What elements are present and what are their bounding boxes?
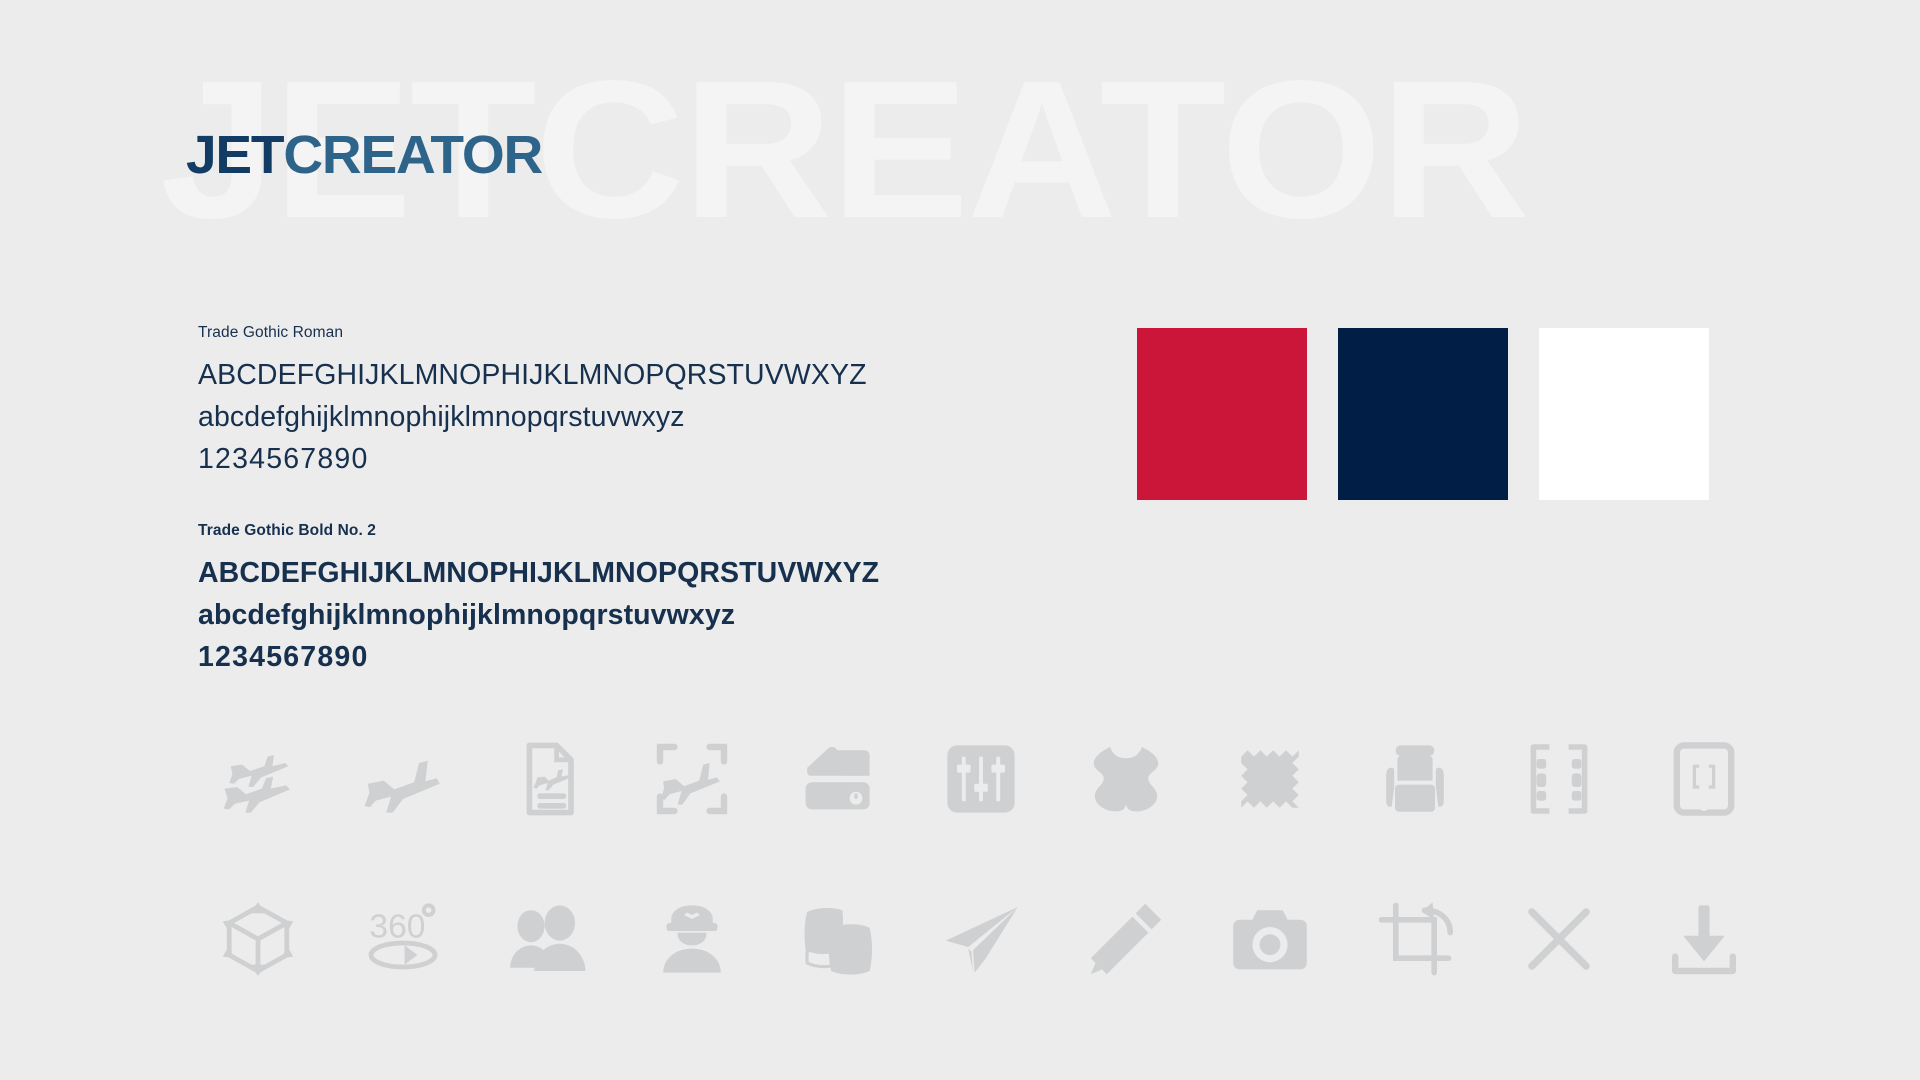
360-rotate-icon: 360 bbox=[331, 885, 476, 993]
camera-icon bbox=[1198, 885, 1343, 993]
typeface-specimen-roman: Trade Gothic Roman ABCDEFGHIJKLMNOPHIJKL… bbox=[198, 324, 867, 483]
pilot-crew-icon bbox=[620, 885, 765, 993]
two-people-icon bbox=[475, 885, 620, 993]
brand-logo: JETCREATOR bbox=[186, 128, 542, 182]
close-x-icon bbox=[1487, 885, 1632, 993]
leather-hide-icon bbox=[1053, 725, 1198, 833]
logo-creator-text: CREATOR bbox=[283, 125, 542, 185]
icon-library: 360 bbox=[186, 725, 1776, 993]
typeface-label-bold: Trade Gothic Bold No. 2 bbox=[198, 522, 879, 540]
specimen-uppercase-roman: ABCDEFGHIJKLMNOPHIJKLMNOPQRSTUVWXYZ bbox=[198, 358, 867, 393]
pillows-icon bbox=[764, 885, 909, 993]
crop-rotate-icon bbox=[1342, 885, 1487, 993]
fabric-swatch-icon bbox=[1198, 725, 1343, 833]
cabin-floorplan-icon bbox=[1487, 725, 1632, 833]
color-swatch-white bbox=[1539, 328, 1709, 500]
color-swatch-red bbox=[1137, 328, 1307, 500]
typeface-specimen-bold: Trade Gothic Bold No. 2 ABCDEFGHIJKLMNOP… bbox=[198, 522, 879, 681]
seat-cushion-stack-icon bbox=[764, 725, 909, 833]
aircraft-seat-icon bbox=[1342, 725, 1487, 833]
specimen-uppercase-bold: ABCDEFGHIJKLMNOPHIJKLMNOPQRSTUVWXYZ bbox=[198, 556, 879, 591]
tablet-device-icon bbox=[1631, 725, 1776, 833]
specimen-lowercase-bold: abcdefghijklmnophijklmnopqrstuvwxyz bbox=[198, 598, 879, 633]
specimen-numerals-roman: 1234567890 bbox=[198, 442, 867, 477]
download-icon bbox=[1631, 885, 1776, 993]
pencil-edit-icon bbox=[1053, 885, 1198, 993]
specimen-lowercase-roman: abcdefghijklmnophijklmnopqrstuvwxyz bbox=[198, 400, 867, 435]
aircraft-document-icon bbox=[475, 725, 620, 833]
sliders-panel-icon bbox=[909, 725, 1054, 833]
two-aircraft-icon bbox=[186, 725, 331, 833]
svg-text:360: 360 bbox=[369, 908, 425, 945]
color-palette bbox=[1137, 328, 1709, 500]
logo-jet-text: JET bbox=[186, 125, 283, 185]
style-guide-page: JETCREATOR JETCREATOR Trade Gothic Roman… bbox=[0, 0, 1920, 1080]
3d-cube-icon bbox=[186, 885, 331, 993]
paper-plane-send-icon bbox=[909, 885, 1054, 993]
color-swatch-navy bbox=[1338, 328, 1508, 500]
typeface-label-roman: Trade Gothic Roman bbox=[198, 324, 867, 342]
specimen-numerals-bold: 1234567890 bbox=[198, 640, 879, 675]
aircraft-icon bbox=[331, 725, 476, 833]
aircraft-select-frame-icon bbox=[620, 725, 765, 833]
